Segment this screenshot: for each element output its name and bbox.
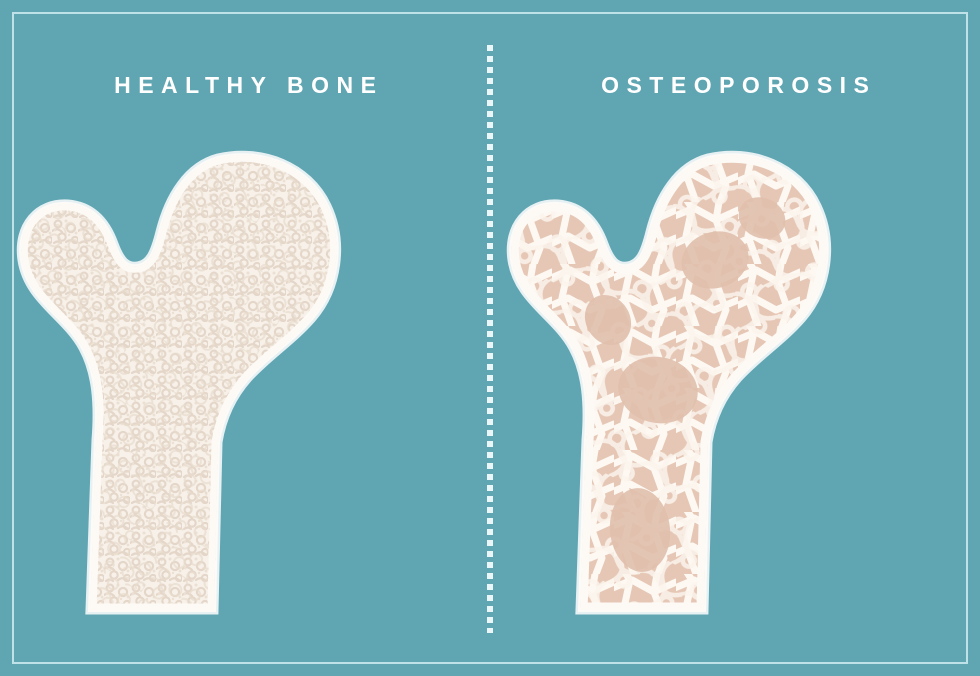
healthy-bone-illustration [0, 140, 490, 640]
dotted-divider [487, 45, 493, 633]
panel-title-healthy: HEALTHY BONE [0, 72, 490, 99]
healthy-bone-svg [0, 140, 490, 640]
panel-osteoporosis: OSTEOPOROSIS [490, 0, 980, 676]
osteoporosis-comparison-infographic: HEALTHY BONE [0, 0, 980, 676]
osteoporotic-bone-illustration [490, 140, 980, 640]
panel-title-osteoporosis: OSTEOPOROSIS [490, 72, 980, 99]
panel-healthy-bone: HEALTHY BONE [0, 0, 490, 676]
osteoporotic-bone-svg [490, 140, 980, 640]
